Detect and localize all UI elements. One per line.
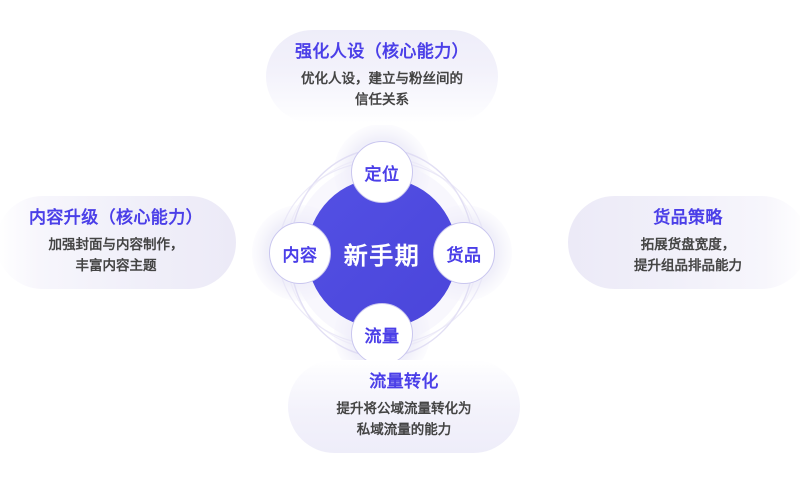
diagram-canvas: 强化人设（核心能力） 优化人设，建立与粉丝间的 信任关系 内容升级（核心能力） … — [0, 0, 800, 478]
callout-left-title: 内容升级（核心能力） — [14, 206, 218, 231]
node-left-label: 内容 — [283, 241, 318, 266]
node-left[interactable]: 内容 — [269, 222, 331, 284]
callout-right-desc: 拓展货盘宽度， 提升组品排品能力 — [586, 234, 790, 277]
node-top[interactable]: 定位 — [351, 141, 413, 203]
callout-left: 内容升级（核心能力） 加强封面与内容制作， 丰富内容主题 — [0, 196, 236, 289]
callout-right-title: 货品策略 — [586, 206, 790, 231]
node-right-label: 货品 — [447, 241, 482, 266]
node-right[interactable]: 货品 — [433, 222, 495, 284]
callout-bottom-title: 流量转化 — [306, 370, 502, 395]
callout-right: 货品策略 拓展货盘宽度， 提升组品排品能力 — [568, 196, 800, 289]
node-bottom-label: 流量 — [365, 322, 400, 347]
hub-and-spoke-diagram: 新手期 定位 货品 流量 内容 — [251, 125, 549, 365]
callout-top: 强化人设（核心能力） 优化人设，建立与粉丝间的 信任关系 — [266, 30, 498, 123]
callout-top-title: 强化人设（核心能力） — [284, 40, 480, 65]
node-bottom[interactable]: 流量 — [351, 303, 413, 365]
node-top-label: 定位 — [365, 160, 400, 185]
callout-left-desc: 加强封面与内容制作， 丰富内容主题 — [14, 234, 218, 277]
callout-bottom-desc: 提升将公域流量转化为 私域流量的能力 — [306, 398, 502, 441]
callout-bottom: 流量转化 提升将公域流量转化为 私域流量的能力 — [288, 360, 520, 453]
callout-top-desc: 优化人设，建立与粉丝间的 信任关系 — [284, 68, 480, 111]
core-node-label: 新手期 — [344, 236, 421, 271]
